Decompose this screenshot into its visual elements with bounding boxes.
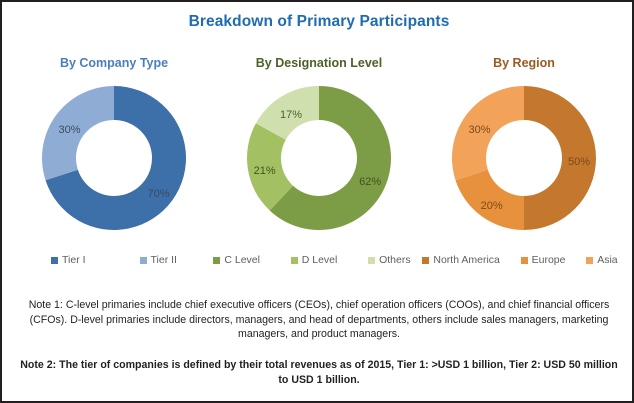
legend-swatch-icon (51, 257, 58, 264)
legend-item[interactable]: Asia (586, 254, 617, 266)
donut-slice[interactable] (524, 86, 596, 230)
legend-label: Others (379, 254, 411, 266)
chart-title-designation-level: By Designation Level (221, 54, 417, 74)
legend-item[interactable]: C Level (213, 254, 260, 266)
legend-designation-level: C LevelD LevelOthers (198, 251, 426, 269)
legend-item[interactable]: North America (422, 254, 500, 266)
legend-swatch-icon (291, 257, 298, 264)
legend-label: C Level (224, 254, 260, 266)
legend-label: D Level (302, 254, 338, 266)
legend-item[interactable]: Tier I (51, 254, 86, 266)
note-1: Note 1: C-level primaries include chief … (18, 298, 620, 342)
donut-chart-designation-level: 62%21%17% (221, 78, 417, 240)
donut-chart-company-type: 70%30% (16, 78, 212, 240)
legend-swatch-icon (213, 257, 220, 264)
legend-swatch-icon (368, 257, 375, 264)
infographic-frame: Breakdown of Primary Participants By Com… (0, 0, 634, 403)
legend-region: North AmericaEuropeAsia (412, 251, 628, 269)
note-2: Note 2: The tier of companies is defined… (18, 358, 620, 387)
chart-block-region: By Region 50%20%30% (426, 54, 622, 244)
donut-chart-region: 50%20%30% (426, 78, 622, 240)
page-title: Breakdown of Primary Participants (2, 13, 634, 31)
chart-title-region: By Region (426, 54, 622, 74)
legend-company-type: Tier ITier II (24, 251, 204, 269)
donut-slice[interactable] (452, 86, 524, 180)
legend-label: North America (433, 254, 500, 266)
donut-svg-company (16, 78, 212, 240)
donut-svg-region (426, 78, 622, 240)
legend-item[interactable]: D Level (291, 254, 338, 266)
donut-slice[interactable] (42, 86, 114, 180)
legend-item[interactable]: Europe (521, 254, 566, 266)
legend-label: Europe (532, 254, 566, 266)
legend-swatch-icon (140, 257, 147, 264)
chart-block-designation-level: By Designation Level 62%21%17% (221, 54, 417, 244)
legend-swatch-icon (422, 257, 429, 264)
legend-label: Tier I (62, 254, 86, 266)
legend-swatch-icon (586, 257, 593, 264)
legend-swatch-icon (521, 257, 528, 264)
legend-item[interactable]: Tier II (140, 254, 177, 266)
donut-slice[interactable] (456, 170, 524, 230)
legend-label: Asia (597, 254, 617, 266)
chart-block-company-type: By Company Type 70%30% (16, 54, 212, 244)
legend-label: Tier II (151, 254, 177, 266)
legend-item[interactable]: Others (368, 254, 411, 266)
chart-title-company-type: By Company Type (16, 54, 212, 74)
donut-svg-designation (221, 78, 417, 240)
